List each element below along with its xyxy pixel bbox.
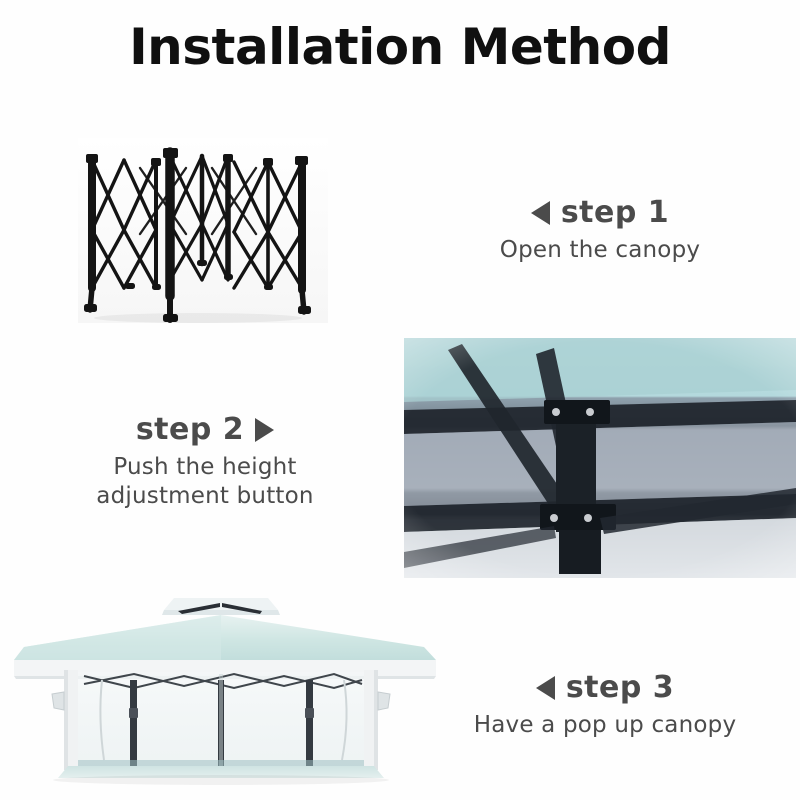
step-1-block: step 1 Open the canopy (430, 196, 770, 265)
folded-frame-photo (78, 138, 328, 323)
step-2-block: step 2 Push the height adjustment button (40, 413, 370, 511)
assembled-gazebo-photo (6, 588, 436, 788)
step-2-label: step 2 (136, 413, 244, 446)
triangle-left-icon (536, 676, 555, 700)
page-title: Installation Method (0, 22, 800, 72)
step-1-heading: step 1 (430, 196, 770, 229)
closeup-vignette (404, 338, 796, 578)
gazebo-illustration (6, 588, 436, 788)
step-2-heading: step 2 (40, 413, 370, 446)
step-1-description: Open the canopy (430, 236, 770, 265)
step-3-description: Have a pop up canopy (430, 711, 780, 740)
triangle-left-icon (531, 201, 550, 225)
step-1-label: step 1 (561, 196, 669, 229)
height-adjustment-closeup-photo (404, 338, 796, 578)
step-2-description: Push the height adjustment button (40, 453, 370, 511)
step-3-heading: step 3 (430, 671, 780, 704)
step-3-label: step 3 (566, 671, 674, 704)
step-3-block: step 3 Have a pop up canopy (430, 671, 780, 740)
folded-frame-illustration (78, 138, 328, 323)
triangle-right-icon (255, 418, 274, 442)
